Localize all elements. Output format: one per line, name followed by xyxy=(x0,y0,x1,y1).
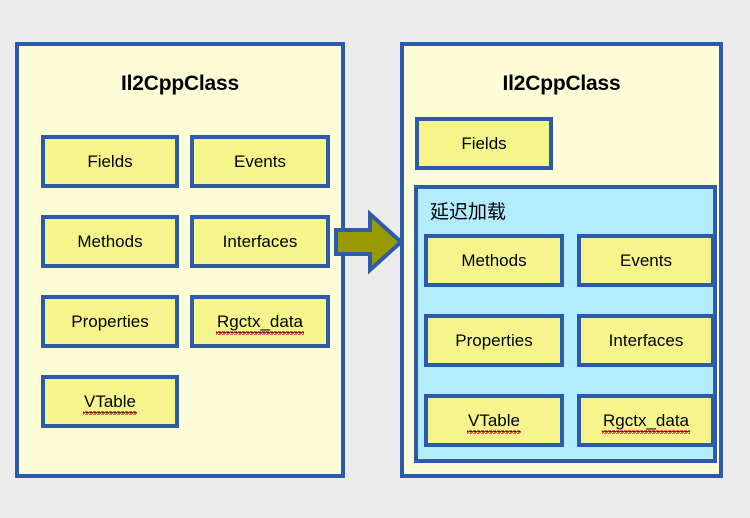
left-box-events: Events xyxy=(190,135,330,188)
left-box-fields: Fields xyxy=(41,135,179,188)
left-panel-title: Il2CppClass xyxy=(19,72,341,96)
right-box-vtable: VTable xyxy=(424,394,564,447)
right-arrow-icon xyxy=(334,208,404,276)
right-box-fields-label: Fields xyxy=(461,134,506,154)
left-box-interfaces: Interfaces xyxy=(190,215,330,268)
right-box-properties-label: Properties xyxy=(455,331,532,351)
right-box-events-label: Events xyxy=(620,251,672,271)
left-box-vtable: VTable xyxy=(41,375,179,428)
left-box-events-label: Events xyxy=(234,152,286,172)
left-class-panel: Il2CppClass Fields Events Methods Interf… xyxy=(15,42,345,478)
left-box-rgctx-data-label: Rgctx_data xyxy=(217,312,303,332)
right-panel-title: Il2CppClass xyxy=(404,72,719,96)
lazy-load-group-title: 延迟加载 xyxy=(430,197,506,224)
diagram-canvas: Il2CppClass Fields Events Methods Interf… xyxy=(0,0,750,518)
left-box-properties: Properties xyxy=(41,295,179,348)
left-box-rgctx-data: Rgctx_data xyxy=(190,295,330,348)
left-box-vtable-label: VTable xyxy=(84,392,136,412)
left-box-methods: Methods xyxy=(41,215,179,268)
left-box-fields-label: Fields xyxy=(87,152,132,172)
right-box-interfaces: Interfaces xyxy=(577,314,715,367)
lazy-load-group: 延迟加载 Methods Events Properties Interface… xyxy=(414,185,717,463)
left-box-properties-label: Properties xyxy=(71,312,148,332)
right-box-events: Events xyxy=(577,234,715,287)
left-box-methods-label: Methods xyxy=(77,232,142,252)
right-box-rgctx-data: Rgctx_data xyxy=(577,394,715,447)
right-box-methods: Methods xyxy=(424,234,564,287)
right-box-properties: Properties xyxy=(424,314,564,367)
right-box-rgctx-data-label: Rgctx_data xyxy=(603,411,689,431)
right-box-vtable-label: VTable xyxy=(468,411,520,431)
right-class-panel: Il2CppClass Fields 延迟加载 Methods Events P… xyxy=(400,42,723,478)
right-box-methods-label: Methods xyxy=(461,251,526,271)
right-box-fields: Fields xyxy=(415,117,553,170)
right-box-interfaces-label: Interfaces xyxy=(609,331,684,351)
left-box-interfaces-label: Interfaces xyxy=(223,232,298,252)
